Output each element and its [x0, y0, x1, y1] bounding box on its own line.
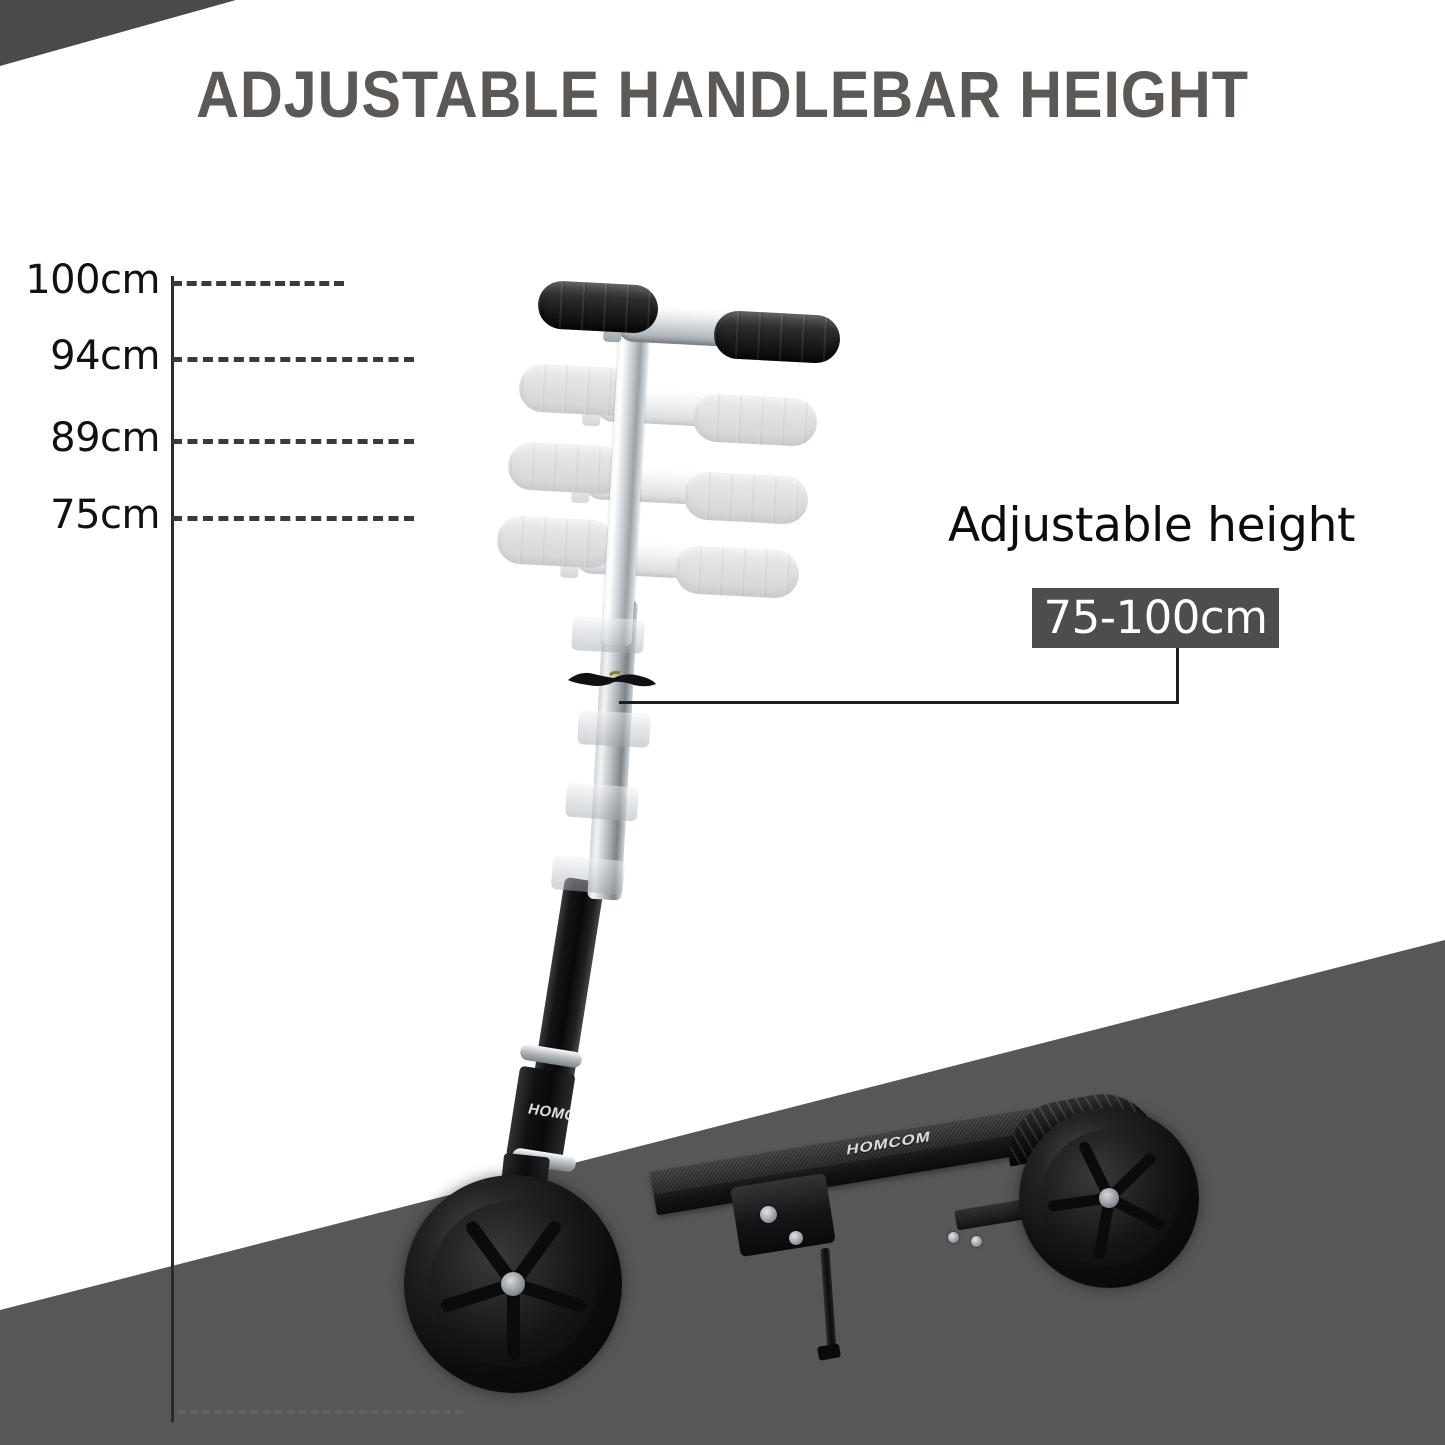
- fold-bolt-2: [789, 1231, 803, 1245]
- scale-tick-label: 100cm: [20, 258, 160, 302]
- stem-clamp-ghost-1: [571, 616, 645, 654]
- grip-ribs: [496, 515, 616, 569]
- stem-clamp-ghost-2: [577, 710, 651, 748]
- stem-clamp-ghost-4: [551, 855, 626, 895]
- grip-ribs: [692, 393, 818, 447]
- scooter-illustration: HOMCOM HOMCOM: [0, 0, 1445, 1445]
- adjustable-height-badge: 75-100cm: [1032, 588, 1279, 648]
- handlebar-grip-right: [683, 471, 809, 525]
- quick-release-lever: [566, 666, 658, 690]
- grip-ribs: [674, 545, 800, 599]
- infographic-canvas: HOMCOM HOMCOM: [0, 0, 1445, 1445]
- handlebar-grip-right: [713, 310, 841, 365]
- scale-tick-dash: [172, 516, 414, 521]
- scale-tick-label: 94cm: [20, 334, 160, 378]
- quick-release-lever-icon: [566, 666, 658, 692]
- front-wheel: [404, 1175, 622, 1393]
- handlebar-grip-left: [537, 280, 659, 334]
- callout-heading: Adjustable height: [948, 498, 1355, 554]
- scale-tick-dash: [172, 357, 414, 362]
- kickstand: [820, 1248, 836, 1354]
- stem-clamp-ghost-3: [565, 783, 639, 822]
- fold-bolt-1: [760, 1206, 777, 1223]
- page-title: ADJUSTABLE HANDLEBAR HEIGHT: [72, 57, 1373, 131]
- scale-tick-label: 75cm: [20, 493, 160, 537]
- grip-ribs: [713, 310, 841, 365]
- grip-ribs: [537, 280, 659, 334]
- grip-ribs: [683, 471, 809, 525]
- handlebar-grip-right: [674, 545, 800, 599]
- kickstand-foot: [817, 1343, 841, 1361]
- front-wheel-hub: [501, 1272, 525, 1296]
- scale-tick-dash: [172, 439, 414, 444]
- scale-tick-label: 89cm: [20, 416, 160, 460]
- height-scale-baseline: [178, 1410, 463, 1414]
- callout-leader-horizontal: [619, 701, 1179, 704]
- grip-ribs: [507, 441, 627, 495]
- deck-bolt-2: [971, 1236, 982, 1247]
- height-scale-axis: [171, 276, 174, 1422]
- rear-wheel: [1019, 1108, 1199, 1288]
- scale-tick-dash: [172, 281, 344, 286]
- deck-logo-text: HOMCOM: [828, 1123, 950, 1164]
- callout-leader-vertical: [1176, 648, 1179, 704]
- deck-bolt-1: [948, 1232, 959, 1243]
- rear-wheel-hub: [1099, 1188, 1119, 1208]
- handlebar-grip-right: [692, 393, 818, 447]
- folding-mechanism: [730, 1173, 836, 1257]
- handlebar-grip-left: [507, 441, 627, 495]
- handlebar-grip-left: [496, 515, 616, 569]
